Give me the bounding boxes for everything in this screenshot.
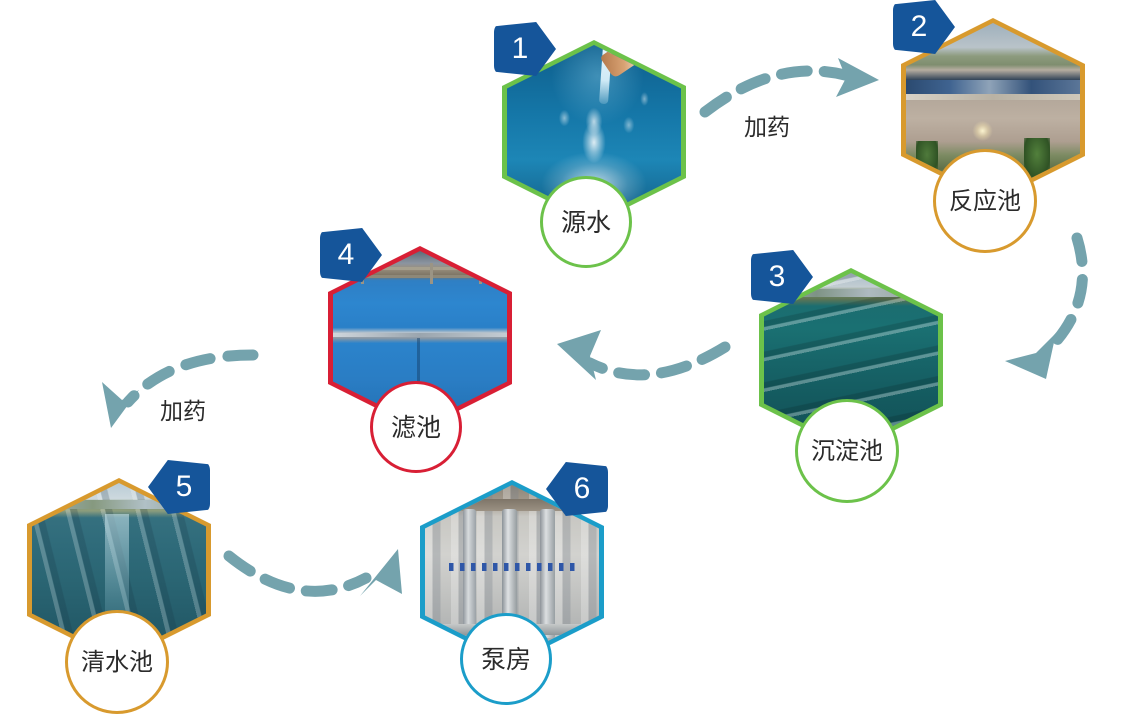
basin-walkway xyxy=(906,94,1080,99)
step-node-4[interactable]: 4 滤池 xyxy=(320,228,520,458)
step-3-label: 沉淀池 xyxy=(811,439,883,463)
valve-handles xyxy=(449,563,574,571)
connector-5-to-6 xyxy=(229,549,402,596)
connector-2-to-3 xyxy=(1005,238,1083,379)
step-node-5[interactable]: 5 清水池 xyxy=(25,460,225,690)
connector-1-to-2 xyxy=(705,58,879,112)
connector-label-1-to-2: 加药 xyxy=(744,108,790,142)
step-6-label: 泵房 xyxy=(481,647,531,672)
step-3-label-circle: 沉淀池 xyxy=(795,399,899,503)
step-4-label-circle: 滤池 xyxy=(370,381,462,473)
step-node-1[interactable]: 1 源水 xyxy=(494,22,694,252)
truss-post-mid xyxy=(430,263,433,284)
connector-3-to-4 xyxy=(557,330,725,380)
step-2-label: 反应池 xyxy=(949,189,1021,213)
step-1-label: 源水 xyxy=(561,210,611,235)
step-1-label-circle: 源水 xyxy=(540,176,632,268)
connector-label-4-to-5: 加药 xyxy=(160,392,206,426)
process-flow-diagram: 加药 加药 1 源水 xyxy=(0,0,1130,714)
basin-structures xyxy=(906,80,1080,94)
step-2-label-circle: 反应池 xyxy=(933,149,1037,253)
step-node-3[interactable]: 3 沉淀池 xyxy=(751,250,951,480)
riser-pipe-3 xyxy=(540,509,555,638)
step-5-label: 清水池 xyxy=(81,650,153,674)
step-6-label-circle: 泵房 xyxy=(460,613,552,705)
basin-divider-walkway xyxy=(333,333,507,337)
step-node-6[interactable]: 6 泵房 xyxy=(418,462,618,692)
riser-pipe-1 xyxy=(463,509,476,634)
step-node-2[interactable]: 2 反应池 xyxy=(893,0,1093,230)
step-5-label-circle: 清水池 xyxy=(65,610,169,714)
step-4-label: 滤池 xyxy=(391,415,441,440)
